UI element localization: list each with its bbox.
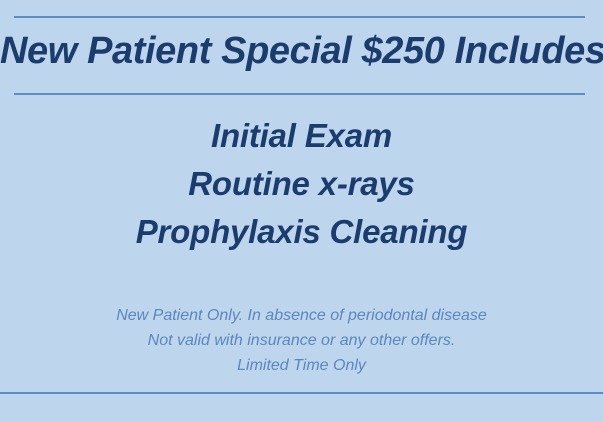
header-top-divider [14, 16, 585, 18]
page-title: New Patient Special $250 Includes: [0, 27, 603, 75]
new-patient-special-promo-card: New Patient Special $250 Includes: Initi… [0, 0, 603, 422]
list-item: Routine x-rays [0, 160, 603, 208]
fine-print-block: New Patient Only. In absence of periodon… [0, 303, 603, 378]
fine-print-line: New Patient Only. In absence of periodon… [0, 303, 603, 328]
footer-band [0, 394, 603, 422]
offer-list: Initial Exam Routine x-rays Prophylaxis … [0, 112, 603, 256]
header-bottom-divider [14, 93, 585, 95]
list-item: Prophylaxis Cleaning [0, 208, 603, 256]
list-item: Initial Exam [0, 112, 603, 160]
fine-print-line: Limited Time Only [0, 353, 603, 378]
fine-print-line: Not valid with insurance or any other of… [0, 328, 603, 353]
